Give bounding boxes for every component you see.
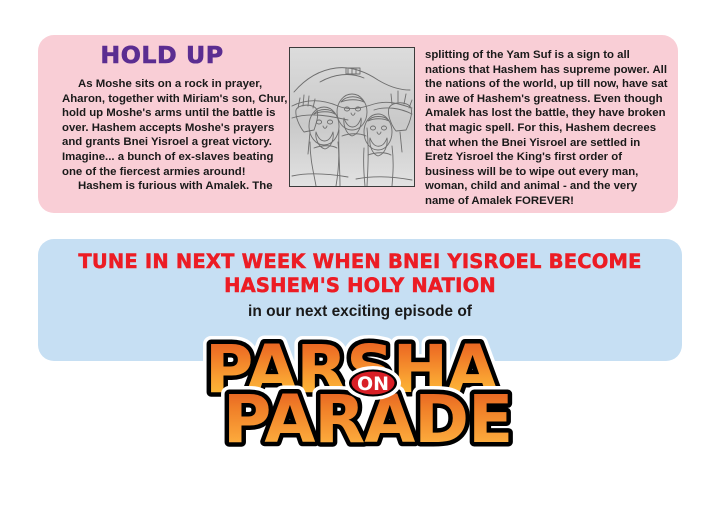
story-paragraph: Hashem is furious with Amalek. The (62, 179, 290, 194)
story-panel: HOLD UP As Moshe sits on a rock in praye… (38, 35, 678, 213)
logo-on-badge-label: ON (357, 373, 389, 395)
moshe-aharon-chur-raised-arms-illustration (289, 47, 415, 187)
teaser-subtitle: in our next exciting episode of (38, 303, 682, 321)
parsha-on-parade-logo: PARSHA PARSHA PARSHA PARADE PARADE PARAD… (195, 330, 535, 465)
story-text-right-column: splitting of the Yam Suf is a sign to al… (425, 48, 668, 209)
logo-on-badge: ON (345, 366, 401, 400)
story-text-left-column: As Moshe sits on a rock in prayer, Aharo… (62, 77, 290, 194)
teaser-headline-line-1: TUNE IN NEXT WEEK WHEN BNEI YISROEL BECO… (38, 250, 682, 273)
teaser-headline-line-2: HASHEM'S HOLY NATION (38, 274, 682, 297)
story-paragraph: As Moshe sits on a rock in prayer, Aharo… (62, 77, 290, 179)
story-paragraph: splitting of the Yam Suf is a sign to al… (425, 48, 668, 209)
page-title: HOLD UP (34, 43, 289, 69)
